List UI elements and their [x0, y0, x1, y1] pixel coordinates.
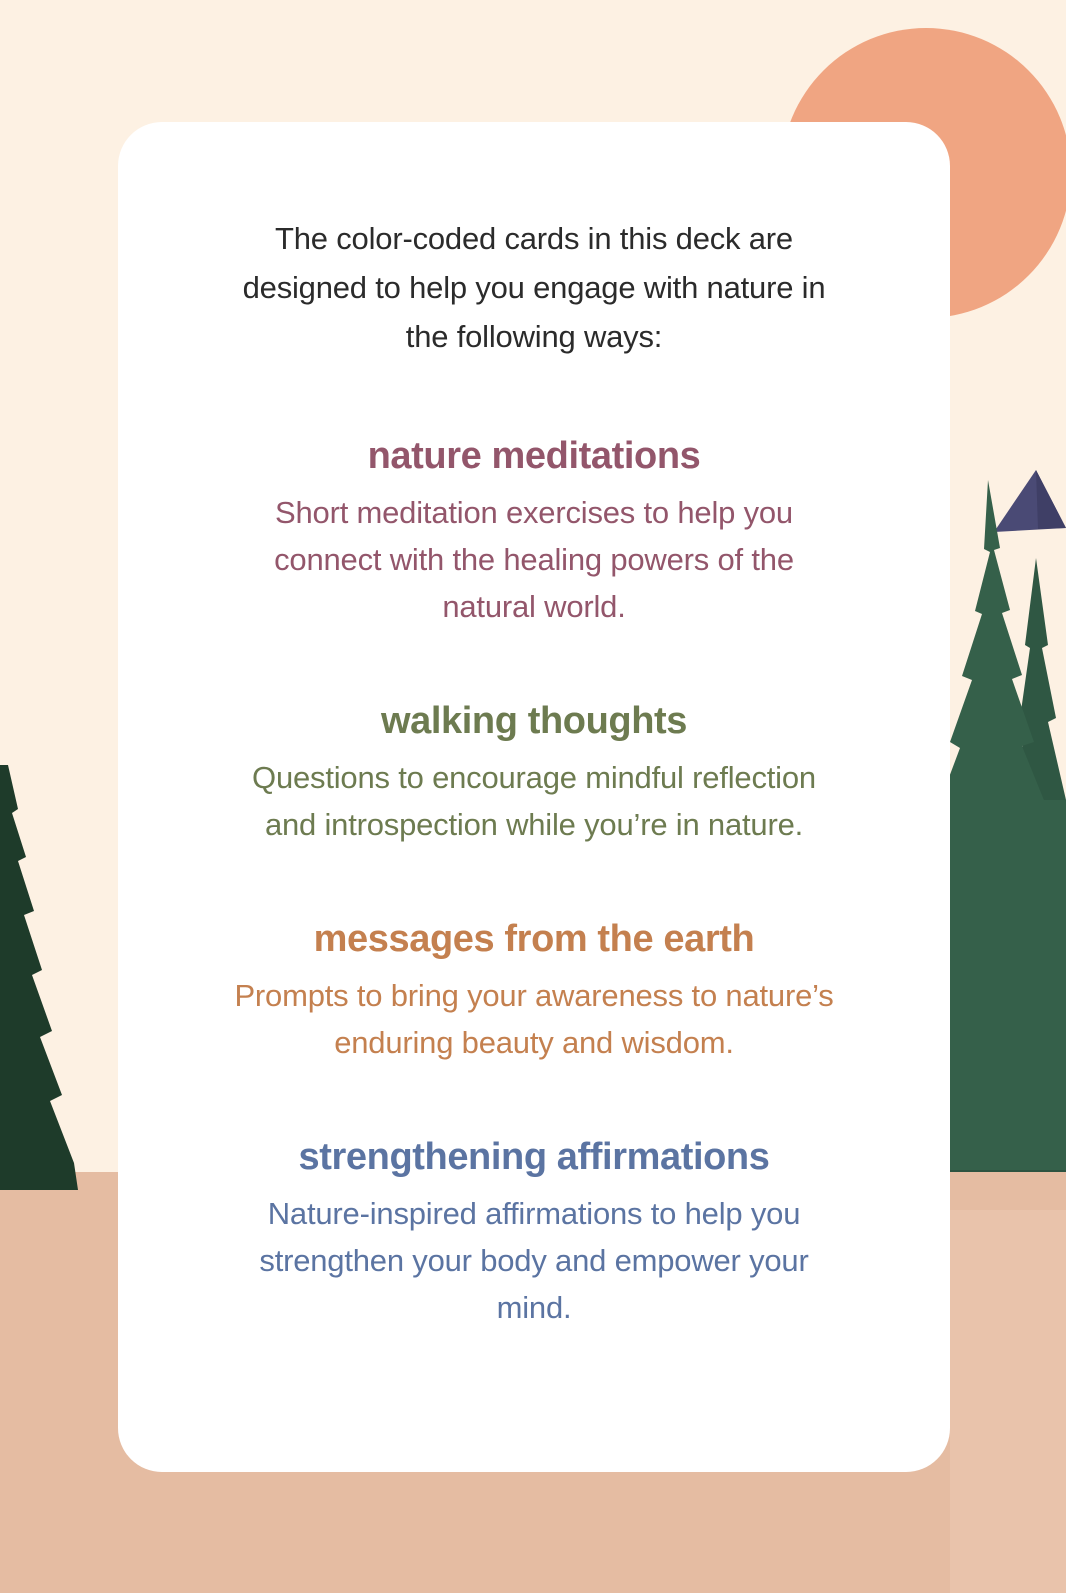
section-nature-meditations: nature meditations Short meditation exer… [162, 431, 906, 630]
section-body: Nature-inspired affirmations to help you… [224, 1190, 844, 1331]
section-strengthening-affirmations: strengthening affirmations Nature-inspir… [162, 1132, 906, 1331]
intro-paragraph: The color-coded cards in this deck are d… [234, 214, 834, 361]
section-title: strengthening affirmations [162, 1132, 906, 1182]
section-title: messages from the earth [162, 914, 906, 964]
section-body: Questions to encourage mindful reflectio… [224, 754, 844, 848]
ground-plane-right [950, 1210, 1066, 1593]
pine-tree-left [0, 765, 118, 1190]
section-messages-from-the-earth: messages from the earth Prompts to bring… [162, 914, 906, 1066]
section-body: Prompts to bring your awareness to natur… [224, 972, 844, 1066]
pine-tree-right-cluster [930, 470, 1066, 1215]
section-body: Short meditation exercises to help you c… [224, 489, 844, 630]
content-card: The color-coded cards in this deck are d… [118, 122, 950, 1472]
card-illustration-page: The color-coded cards in this deck are d… [0, 0, 1066, 1593]
section-title: nature meditations [162, 431, 906, 481]
section-title: walking thoughts [162, 696, 906, 746]
section-walking-thoughts: walking thoughts Questions to encourage … [162, 696, 906, 848]
